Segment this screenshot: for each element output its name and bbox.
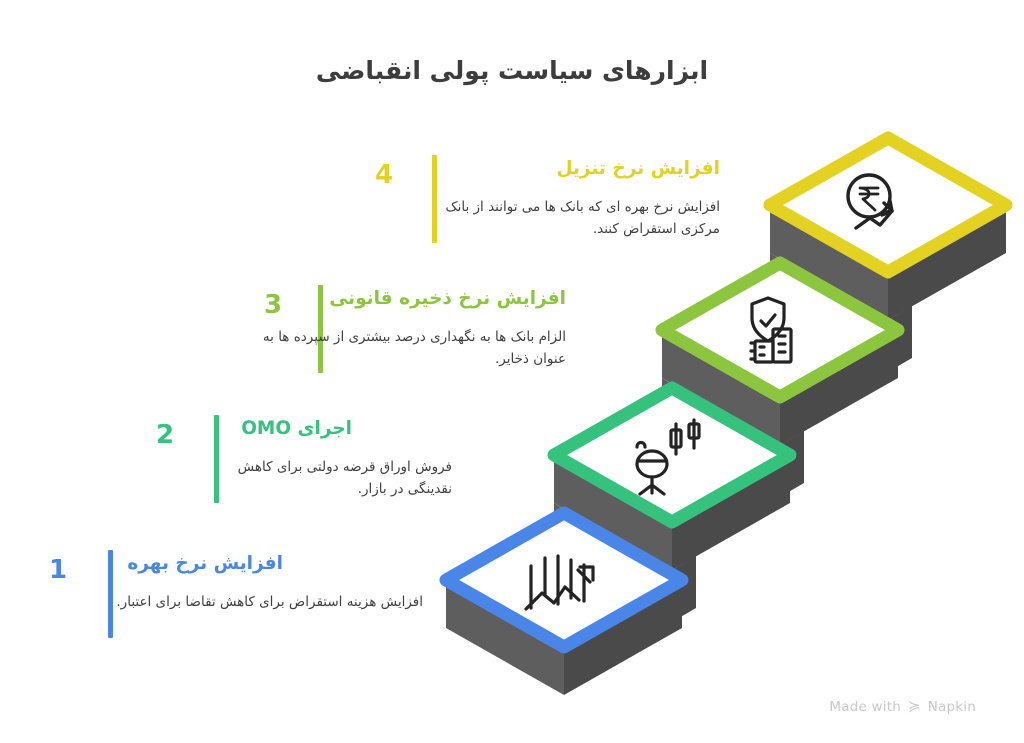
staircase-risers bbox=[446, 205, 1006, 695]
trader-candlestick-icon bbox=[637, 420, 699, 494]
step-heading-1: افزایش نرخ بهره bbox=[0, 552, 283, 575]
watermark-brand: Napkin bbox=[928, 699, 976, 715]
watermark-prefix: Made with bbox=[829, 699, 901, 715]
step-body-4: افزایش نرخ بهره ای که بانک ها می توانند … bbox=[420, 197, 720, 241]
step-body-1: افزایش هزینه استقراض برای کاهش تقاضا برا… bbox=[103, 592, 423, 614]
infographic-canvas: ابزارهای سیاست پولی انقباضی bbox=[0, 0, 1024, 743]
candlestick-rising-arrow-icon bbox=[526, 556, 593, 609]
step-plate-1 bbox=[446, 513, 682, 647]
step-plate-2 bbox=[554, 388, 790, 522]
step-heading-4: افزایش نرخ تنزیل bbox=[0, 157, 720, 180]
isometric-staircase bbox=[0, 0, 1024, 743]
step-body-3: الزام بانک ها به نگهداری درصد بیشتری از … bbox=[226, 327, 566, 371]
napkin-watermark: Made with ≽ Napkin bbox=[829, 699, 976, 715]
shield-check-bank-icon bbox=[751, 298, 791, 362]
step-plate-4 bbox=[770, 138, 1006, 272]
step-heading-2: اجرای OMO bbox=[0, 417, 352, 440]
step-body-2: فروش اوراق قرضه دولتی برای کاهش نقدینگی … bbox=[212, 457, 452, 501]
page-title: ابزارهای سیاست پولی انقباضی bbox=[0, 56, 1024, 85]
step-heading-3: افزایش نرخ ذخیره قانونی bbox=[0, 287, 566, 310]
step-plate-3 bbox=[662, 263, 898, 397]
rupee-coin-rising-arrow-icon bbox=[848, 175, 892, 228]
napkin-logo-icon: ≽ bbox=[908, 699, 921, 714]
